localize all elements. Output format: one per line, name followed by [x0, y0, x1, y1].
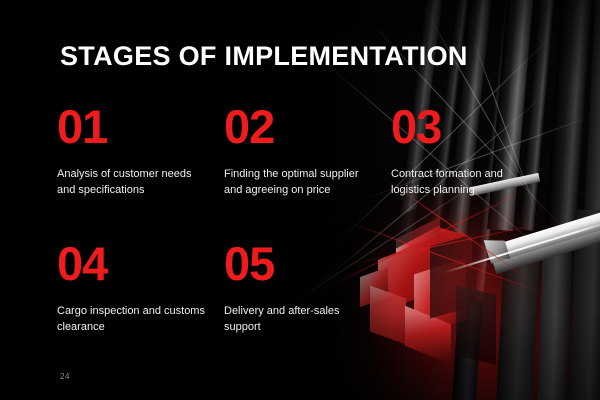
step-number: 02 — [224, 103, 391, 150]
step-item-05: 05 Delivery and after-sales support — [224, 240, 391, 335]
step-item-03: 03 Contract formation and logistics plan… — [391, 103, 558, 198]
step-number: 03 — [391, 103, 558, 150]
step-number: 05 — [224, 240, 391, 287]
presentation-slide: STAGES OF IMPLEMENTATION 01 Analysis of … — [0, 0, 600, 400]
step-item-empty — [391, 240, 558, 335]
steps-grid: 01 Analysis of customer needs and specif… — [57, 103, 577, 335]
page-number: 24 — [60, 372, 70, 381]
step-number: 01 — [57, 103, 224, 150]
step-item-01: 01 Analysis of customer needs and specif… — [57, 103, 224, 198]
page-title: STAGES OF IMPLEMENTATION — [60, 41, 468, 72]
step-description: Cargo inspection and customs clearance — [57, 304, 209, 335]
steps-row-bottom: 04 Cargo inspection and customs clearanc… — [57, 240, 577, 335]
step-number: 04 — [57, 240, 224, 287]
step-description: Finding the optimal supplier and agreein… — [224, 167, 376, 198]
steps-row-top: 01 Analysis of customer needs and specif… — [57, 103, 577, 198]
step-description: Analysis of customer needs and specifica… — [57, 167, 209, 198]
step-item-04: 04 Cargo inspection and customs clearanc… — [57, 240, 224, 335]
step-description: Delivery and after-sales support — [224, 304, 376, 335]
slide-content: STAGES OF IMPLEMENTATION 01 Analysis of … — [0, 0, 600, 400]
step-item-02: 02 Finding the optimal supplier and agre… — [224, 103, 391, 198]
step-description: Contract formation and logistics plannin… — [391, 167, 543, 198]
